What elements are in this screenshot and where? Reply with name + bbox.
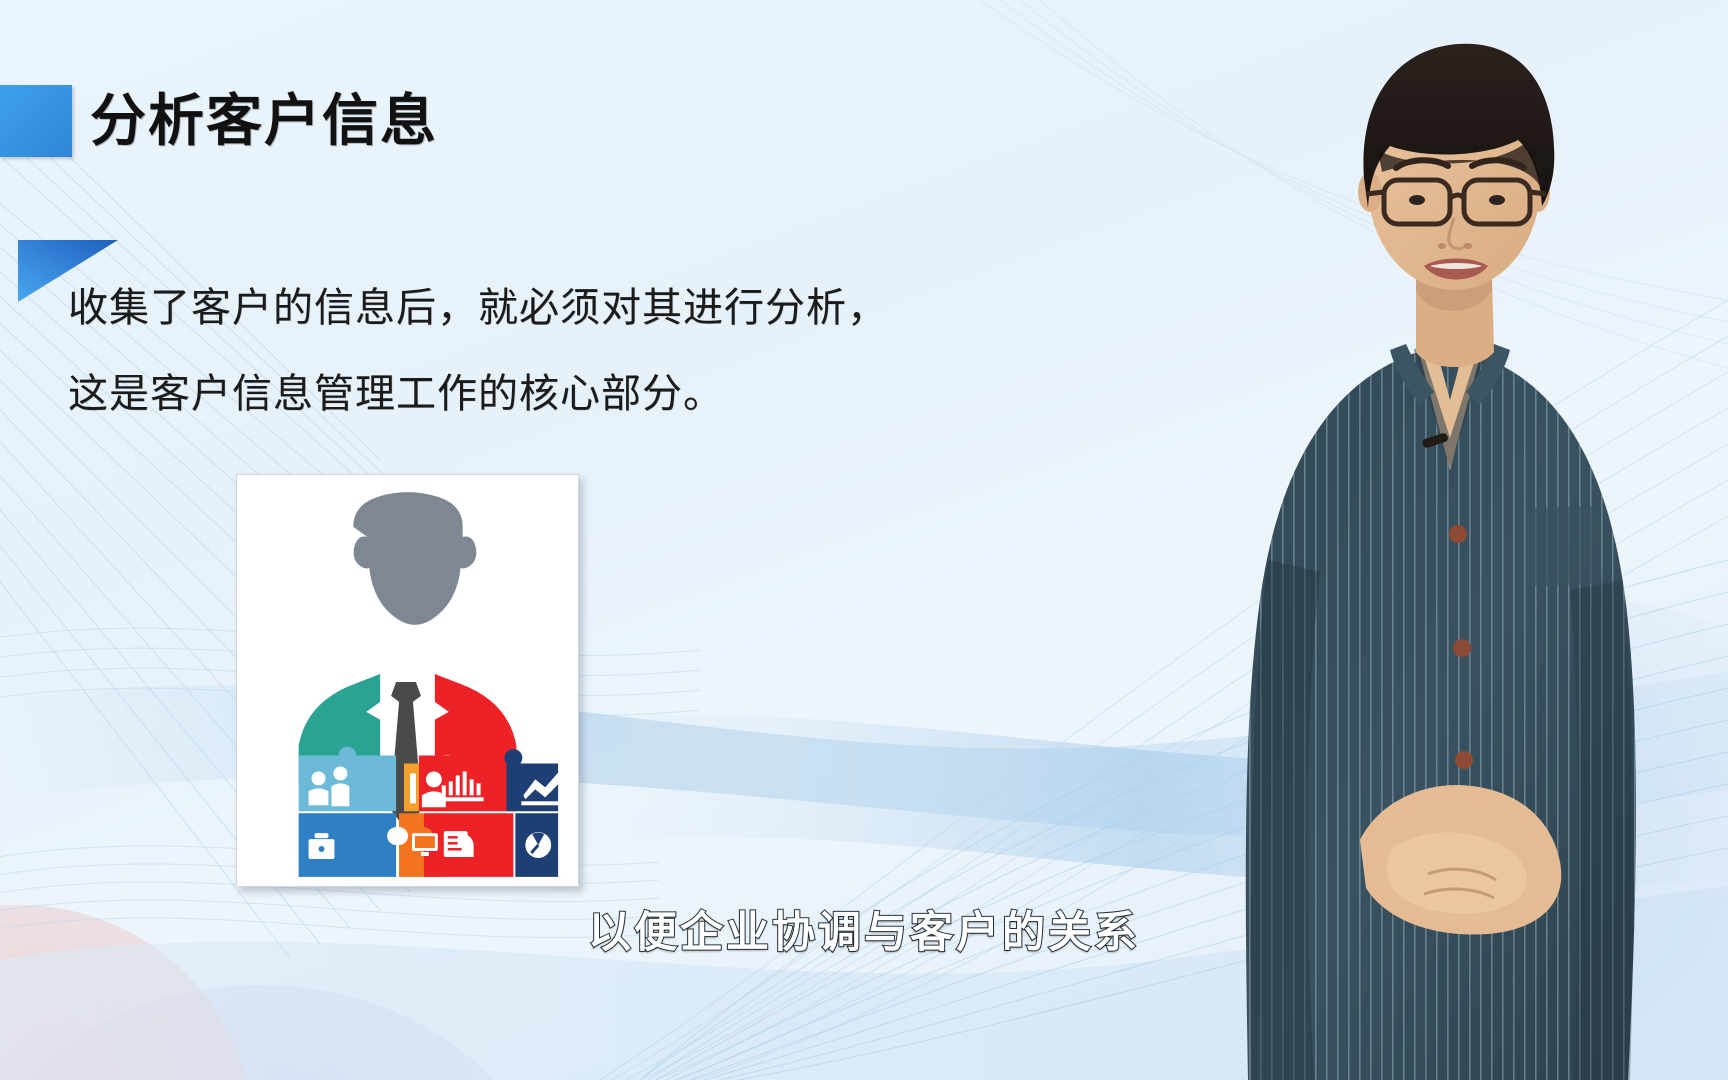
body-line-1: 收集了客户的信息后，就必须对其进行分析， [68, 288, 968, 328]
page-title: 分析客户信息 [90, 93, 438, 149]
title-accent-square [0, 85, 72, 157]
subtitle-caption: 以便企业协调与客户的关系 [0, 898, 1728, 960]
shirt-button-1 [1449, 525, 1467, 543]
slide-title-row: 分析客户信息 [0, 85, 438, 157]
presenter-hair [1363, 44, 1554, 208]
slide-canvas: 分析客户信息 收集了客户的信息后，就必须对其进行分析， 这是客户信息管理工作的核… [0, 0, 1728, 1080]
lapel-microphone [1421, 432, 1449, 449]
background-blob-blue [1278, 600, 1728, 1080]
slide-body-text: 收集了客户的信息后，就必须对其进行分析， 这是客户信息管理工作的核心部分。 [68, 288, 968, 414]
presenter-head [1358, 44, 1554, 298]
caption-text: 以便企业协调与客户的关系 [588, 898, 1140, 960]
illustration-card [236, 474, 579, 887]
body-line-2: 这是客户信息管理工作的核心部分。 [68, 374, 968, 414]
glasses-icon [1366, 180, 1546, 224]
